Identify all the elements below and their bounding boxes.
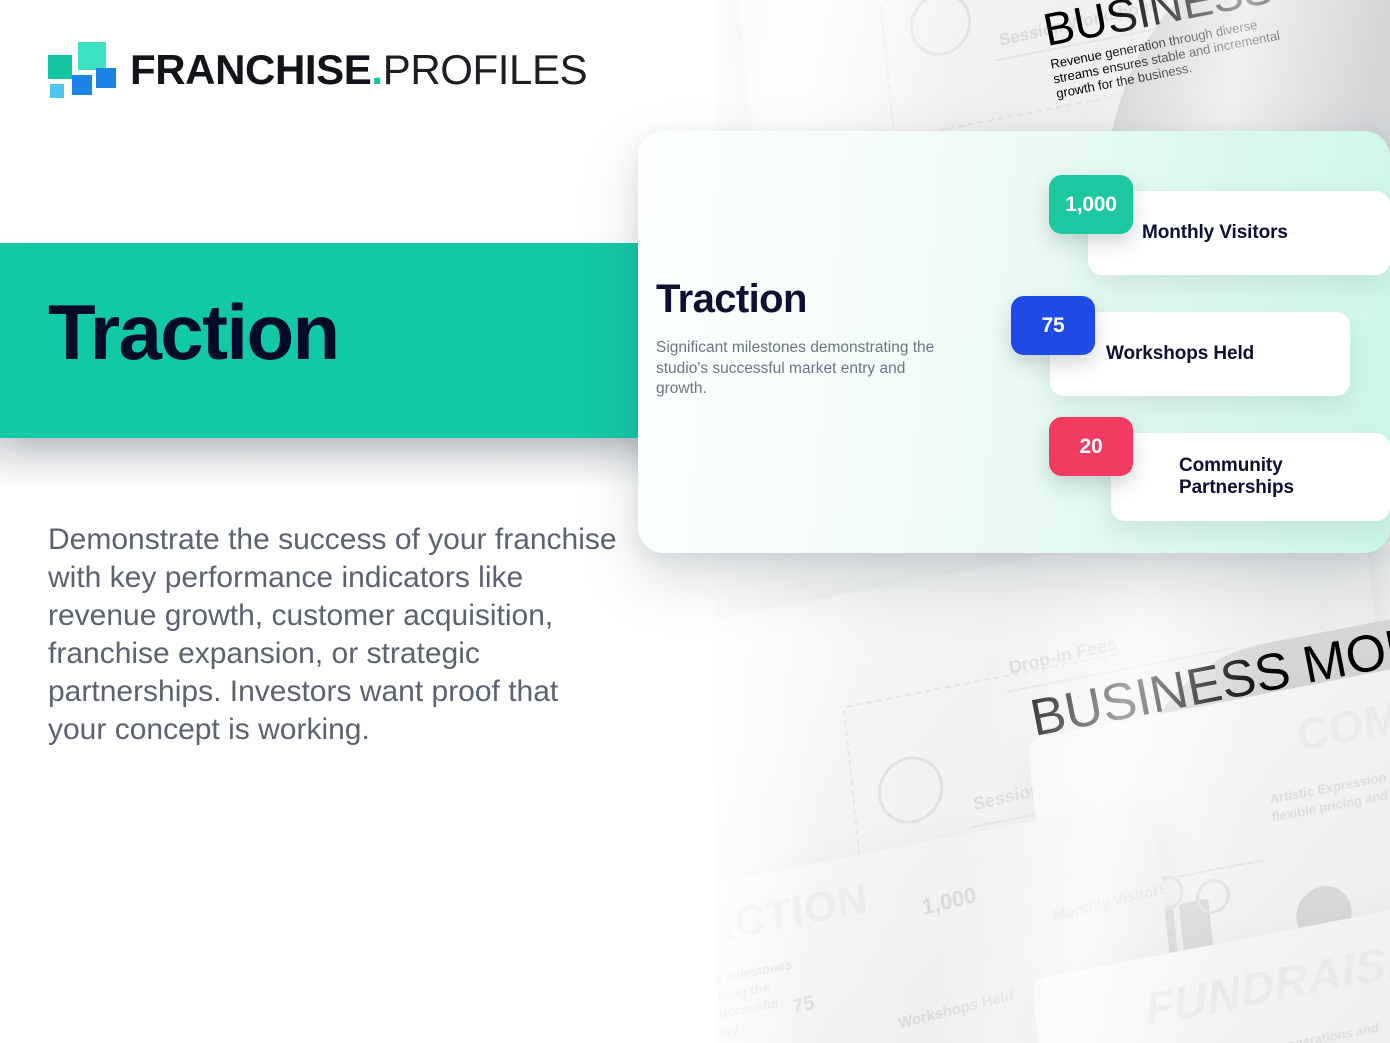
slide-canvas: Drop-in Fees Session Workshops Commissio… xyxy=(0,0,1390,1043)
slide-title: TRACTION xyxy=(715,878,870,961)
page-title: Traction xyxy=(48,293,339,371)
brand-name-light: PROFILES xyxy=(383,46,588,93)
section-banner: Traction xyxy=(0,243,718,438)
metric-card: Workshops Held xyxy=(1050,312,1350,396)
metric-card: Community Partnerships xyxy=(1111,433,1390,521)
card-title: Traction xyxy=(656,279,986,319)
brand-wordmark: FRANCHISE.PROFILES xyxy=(130,49,587,91)
metric-label: Workshops Held xyxy=(897,987,1015,1032)
squares-logo-mark-icon xyxy=(48,42,110,98)
metric-value: 1,000 xyxy=(920,882,978,921)
logo-square-mint xyxy=(78,42,106,70)
card-subtitle: Significant milestones demonstrating the… xyxy=(656,338,956,400)
brand-name-dot: . xyxy=(371,46,382,93)
metric-card: Monthly Visitors xyxy=(1088,191,1390,275)
metric-label: Workshops Held xyxy=(1106,343,1254,365)
metric-label: Monthly Visitors xyxy=(1142,222,1288,244)
metric-item[interactable]: 1,000 Monthly Visitors xyxy=(1038,175,1390,295)
traction-preview-card[interactable]: Traction Significant milestones demonstr… xyxy=(638,131,1390,553)
logo-square-blue-small xyxy=(72,75,92,95)
metric-item[interactable]: 20 Community Partnerships xyxy=(1038,417,1390,537)
metric-item[interactable]: 75 Workshops Held xyxy=(1038,296,1390,416)
metrics-list: 1,000 Monthly Visitors 75 Workshops Held… xyxy=(1038,175,1390,537)
metric-value-badge: 1,000 xyxy=(1049,175,1133,234)
metric-value-badge: 20 xyxy=(1049,417,1133,476)
brand-name-bold: FRANCHISE xyxy=(130,46,371,93)
card-text-block: Traction Significant milestones demonstr… xyxy=(656,279,986,400)
logo-square-blue xyxy=(96,68,116,88)
metric-label: Community Partnerships xyxy=(1179,455,1329,499)
section-description: Demonstrate the success of your franchis… xyxy=(48,521,623,749)
brand-logo[interactable]: FRANCHISE.PROFILES xyxy=(48,42,587,98)
metric-label: Monthly Visitors xyxy=(1052,880,1168,925)
metric-value-badge: 75 xyxy=(1011,296,1095,355)
logo-square-teal xyxy=(48,55,72,79)
logo-square-sky xyxy=(50,84,64,98)
